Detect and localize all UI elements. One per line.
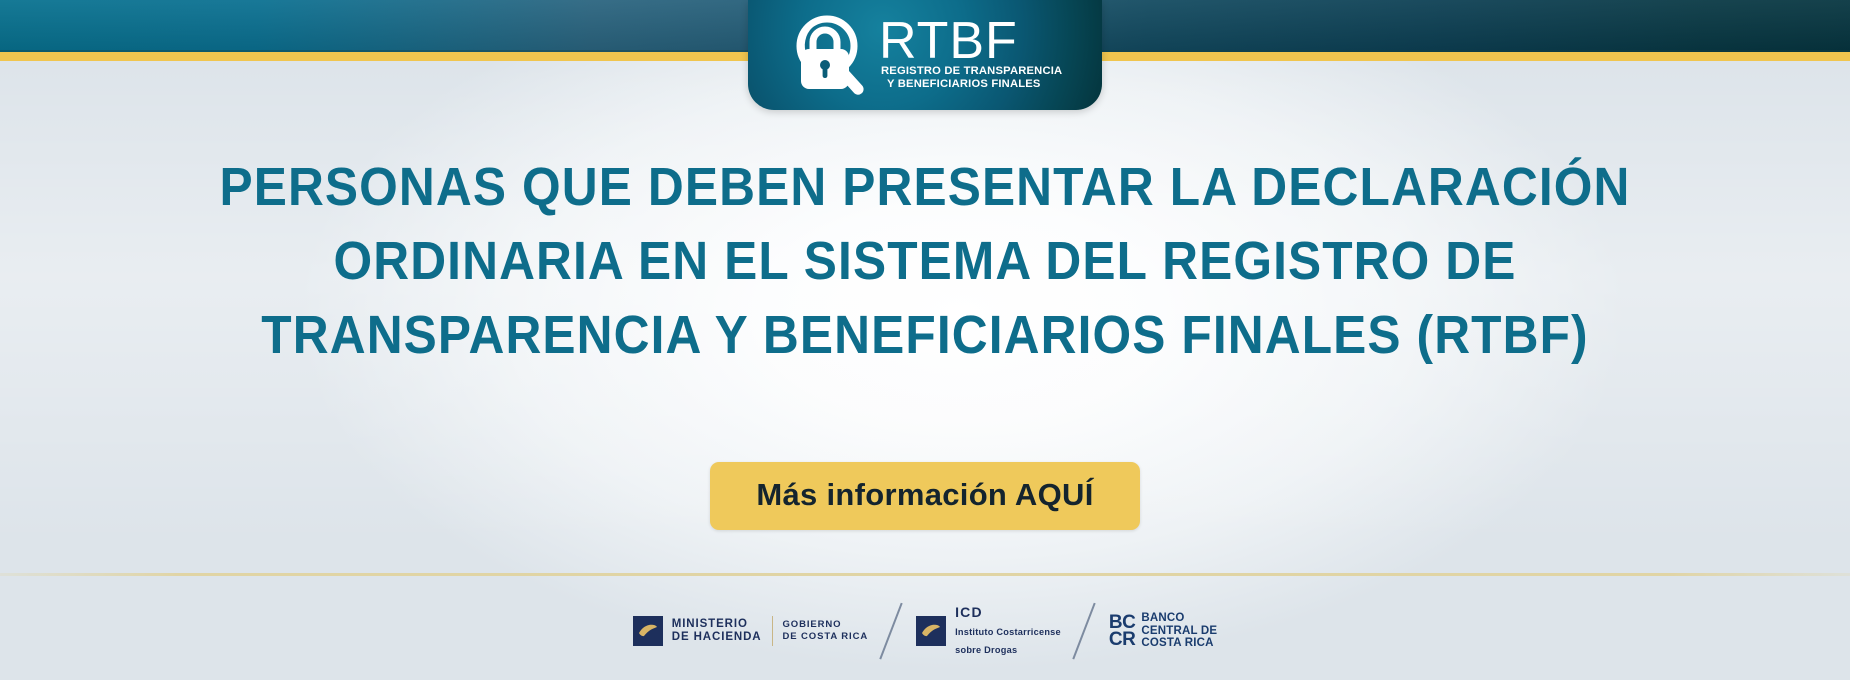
logo-ministerio-hacienda[interactable]: MINISTERIO DE HACIENDA GOBIERNO DE COSTA… [633,616,868,646]
footer-divider [0,573,1850,576]
footer-slash-divider-2 [1061,603,1109,659]
logo-subtitle-line2: Y BENEFICIARIOS FINALES [887,78,1041,90]
logo-icd[interactable]: ICD Instituto Costarricense sobre Drogas [916,604,1061,658]
bccr-name: BANCO CENTRAL DE COSTA RICA [1141,612,1217,650]
icd-title: ICD [955,604,983,620]
costa-rica-crest-icon [916,616,946,646]
bccr-monogram: BC CR [1109,614,1135,648]
footer-logos: MINISTERIO DE HACIENDA GOBIERNO DE COSTA… [0,596,1850,666]
logo-acronym: RTBF [879,12,1018,70]
logo-bccr[interactable]: BC CR BANCO CENTRAL DE COSTA RICA [1109,612,1217,650]
bccr-name-line-3: COSTA RICA [1141,637,1213,649]
padlock-keyhole-stem-icon [823,67,828,78]
headline: PERSONAS QUE DEBEN PRESENTAR LA DECLARAC… [74,150,1776,372]
footer-slash-divider-1 [868,603,916,659]
icd-subtitle-line-2: sobre Drogas [955,645,1017,655]
bccr-mark-line-2: CR [1109,629,1135,650]
icd-subtitle-line-1: Instituto Costarricense [955,627,1061,637]
mas-informacion-button[interactable]: Más información AQUÍ [710,462,1139,530]
gobierno-line-1: GOBIERNO [783,619,842,630]
ministerio-hacienda-title: MINISTERIO DE HACIENDA [672,618,762,645]
padlock-shackle-icon [813,30,837,50]
rtbf-logo-svg: RTBF REGISTRO DE TRANSPARENCIA Y BENEFIC… [775,12,1075,98]
costa-rica-crest-icon [633,616,663,646]
gobierno-costa-rica-label: GOBIERNO DE COSTA RICA [783,619,869,643]
headline-line-1: PERSONAS QUE DEBEN PRESENTAR LA DECLARAC… [74,150,1776,224]
logo-subtitle-line1: REGISTRO DE TRANSPARENCIA [881,65,1062,77]
hacienda-separator [772,616,773,646]
gobierno-line-2: DE COSTA RICA [783,631,869,642]
rtbf-promo-banner: RTBF REGISTRO DE TRANSPARENCIA Y BENEFIC… [0,0,1850,680]
bccr-name-line-1: BANCO [1141,612,1184,624]
icd-text-block: ICD Instituto Costarricense sobre Drogas [955,604,1061,658]
bccr-name-line-2: CENTRAL DE [1141,625,1217,637]
headline-line-3: TRANSPARENCIA Y BENEFICIARIOS FINALES (R… [74,298,1776,372]
rtbf-logo: RTBF REGISTRO DE TRANSPARENCIA Y BENEFIC… [748,0,1102,110]
hacienda-line-2: DE HACIENDA [672,631,762,643]
hacienda-line-1: MINISTERIO [672,618,748,630]
headline-line-2: ORDINARIA EN EL SISTEMA DEL REGISTRO DE [74,224,1776,298]
rtbf-logo-tab[interactable]: RTBF REGISTRO DE TRANSPARENCIA Y BENEFIC… [748,0,1102,110]
cta-container: Más información AQUÍ [0,462,1850,530]
